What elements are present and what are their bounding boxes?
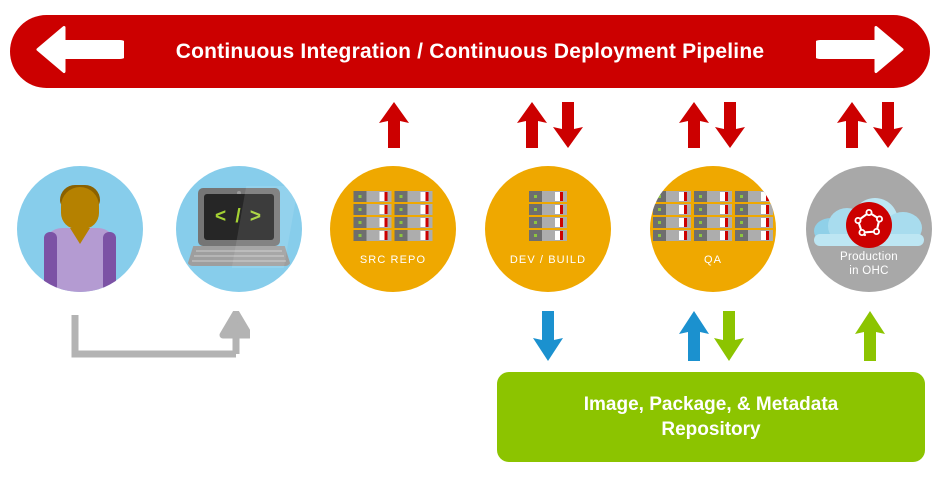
rack-unit bbox=[694, 230, 732, 241]
rack-column bbox=[395, 191, 433, 241]
rack-unit bbox=[395, 204, 433, 215]
arrow-left-icon bbox=[34, 23, 124, 80]
rack-unit bbox=[653, 230, 691, 241]
code-glyph: < / > bbox=[215, 206, 263, 228]
node-code[interactable]: < / > bbox=[176, 166, 302, 292]
node-production[interactable]: Production in OHC bbox=[806, 166, 932, 292]
laptop-screen: < / > bbox=[204, 194, 274, 240]
rack-unit bbox=[354, 217, 392, 228]
rack-column bbox=[694, 191, 732, 241]
server-rack-icon: DEV / BUILD bbox=[485, 166, 611, 292]
cicd-pipeline-banner: Continuous Integration / Continuous Depl… bbox=[10, 15, 930, 88]
node-dev-build[interactable]: DEV / BUILD bbox=[485, 166, 611, 292]
arrow-down-icon-production bbox=[872, 101, 904, 154]
node-src-repo[interactable]: SRC REPO bbox=[330, 166, 456, 292]
node-label-src-repo: SRC REPO bbox=[330, 254, 456, 267]
person-shoulder-right bbox=[103, 232, 116, 292]
cloud-openshift-icon: Production in OHC bbox=[806, 166, 932, 292]
node-label-production: Production in OHC bbox=[806, 250, 932, 278]
rack-unit bbox=[529, 191, 567, 202]
rack-column bbox=[354, 191, 392, 241]
rack-column bbox=[529, 191, 567, 241]
arrow-up-icon-production-repo bbox=[854, 310, 886, 367]
node-developer[interactable] bbox=[17, 166, 143, 292]
node-label-production-line2: in OHC bbox=[806, 264, 932, 278]
rack-unit bbox=[735, 217, 773, 228]
arrow-up-icon-src-repo bbox=[378, 101, 410, 154]
arrow-down-icon-qa-repo bbox=[713, 310, 745, 367]
arrow-up-icon-qa-repo bbox=[678, 310, 710, 367]
server-rack-icon: QA bbox=[650, 166, 776, 292]
rack-column bbox=[735, 191, 773, 241]
person-avatar-icon bbox=[17, 166, 143, 292]
node-qa[interactable]: QA bbox=[650, 166, 776, 292]
repository-label-line2: Repository bbox=[584, 417, 839, 442]
rack-group bbox=[529, 191, 567, 241]
rack-unit bbox=[694, 217, 732, 228]
rack-unit bbox=[395, 191, 433, 202]
rack-unit bbox=[529, 217, 567, 228]
diagram-canvas: Continuous Integration / Continuous Depl… bbox=[0, 0, 941, 500]
developer-to-code-connector bbox=[70, 311, 242, 359]
person-shoulder-left bbox=[44, 232, 57, 292]
rack-unit bbox=[694, 191, 732, 202]
node-label-dev-build: DEV / BUILD bbox=[485, 254, 611, 267]
arrow-down-icon-dev-build bbox=[552, 101, 584, 154]
repository-label-line1: Image, Package, & Metadata bbox=[584, 392, 839, 417]
arrow-up-icon-dev-build bbox=[516, 101, 548, 154]
rack-unit bbox=[354, 230, 392, 241]
laptop-key-line bbox=[194, 255, 284, 257]
repository-box[interactable]: Image, Package, & Metadata Repository bbox=[497, 372, 925, 462]
rack-column bbox=[653, 191, 691, 241]
arrow-up-icon-production bbox=[836, 101, 868, 154]
rack-unit bbox=[529, 230, 567, 241]
arrow-down-icon-qa bbox=[714, 101, 746, 154]
rack-unit bbox=[529, 204, 567, 215]
laptop-key-line bbox=[196, 250, 282, 252]
rack-unit bbox=[694, 204, 732, 215]
rack-unit bbox=[354, 204, 392, 215]
banner-title: Continuous Integration / Continuous Depl… bbox=[176, 40, 765, 64]
rack-unit bbox=[735, 230, 773, 241]
arrow-right-icon bbox=[816, 23, 906, 80]
rack-unit bbox=[735, 191, 773, 202]
rack-group bbox=[354, 191, 433, 241]
node-label-qa: QA bbox=[650, 254, 776, 267]
repository-label: Image, Package, & Metadata Repository bbox=[584, 392, 839, 442]
rack-unit bbox=[735, 204, 773, 215]
rack-unit bbox=[653, 204, 691, 215]
rack-unit bbox=[653, 217, 691, 228]
rack-unit bbox=[395, 217, 433, 228]
rack-unit bbox=[354, 191, 392, 202]
arrow-up-icon-qa bbox=[678, 101, 710, 154]
rack-group bbox=[653, 191, 773, 241]
rack-unit bbox=[395, 230, 433, 241]
laptop-key-line bbox=[192, 260, 286, 262]
laptop-code-icon: < / > bbox=[176, 166, 302, 292]
arrow-down-icon-dev-build-repo bbox=[532, 310, 564, 367]
rack-unit bbox=[653, 191, 691, 202]
openshift-logo-icon bbox=[846, 202, 892, 248]
server-rack-icon: SRC REPO bbox=[330, 166, 456, 292]
node-label-production-line1: Production bbox=[806, 250, 932, 264]
